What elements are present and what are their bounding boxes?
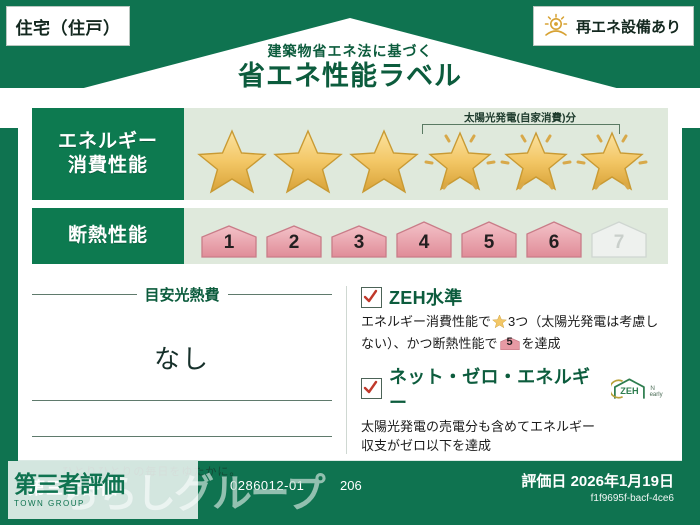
insulation-performance-label: 断熱性能 [32, 208, 184, 264]
star-filled [272, 120, 344, 196]
insulation-label-text: 断熱性能 [68, 224, 148, 248]
zeh-logo: ZEH Ｎearly [611, 377, 668, 401]
inline-grade-number: 5 [500, 335, 520, 351]
zeh-desc-part2: 3つ（太陽光発電 [508, 314, 606, 329]
grade-badge-7: 7 [588, 219, 650, 259]
energy-performance-body: 太陽光発電(自家消費)分 [184, 108, 668, 200]
star-solar [424, 120, 496, 196]
rating-rows: エネルギー 消費性能 太陽光発電(自家消費)分 [32, 108, 668, 272]
net-zero-title: ネット・ゼロ・エネルギー [389, 363, 602, 415]
grade-badge-2: 2 [263, 223, 325, 259]
star-rating [184, 120, 668, 200]
grade-number: 4 [393, 232, 455, 254]
footer-divider [18, 460, 682, 461]
utility-cost-label: 目安光熱費 [145, 284, 220, 305]
svg-text:ZEH: ZEH [620, 386, 639, 396]
utility-cost-value: なし [32, 339, 332, 376]
inline-grade-badge-icon: 5 [500, 335, 520, 352]
energy-performance-label: エネルギー 消費性能 [32, 108, 184, 200]
grade-scale: 1 2 3 [184, 219, 650, 264]
evaluation-date-label: 評価日 [521, 473, 566, 490]
zeh-standard-header: ZEH水準 [361, 284, 668, 310]
grade-badge-3: 3 [328, 223, 390, 259]
net-zero-description: 太陽光発電の売電分も含めてエネルギー 収支がゼロ以下を達成 [361, 418, 668, 456]
inline-star-icon [492, 314, 507, 335]
heading-rule-right [228, 294, 333, 295]
grade-badge-4: 4 [393, 219, 455, 259]
net-zero-energy-item: ネット・ゼロ・エネルギー ZEH Ｎearly 太陽光発電の売電分も含めてエネル… [361, 363, 668, 456]
net-zero-desc-line2: 収支がゼロ以下を達成 [361, 438, 491, 453]
grade-number: 3 [328, 232, 390, 254]
evaluation-date-block: 評価日 2026年1月19日 f1f9695f-bacf-4ce6 [521, 470, 674, 504]
energy-label-card: 住宅（住戸） 再エネ設備あり 建築物省エネ法に基づく 省エネ性能ラベル [0, 0, 700, 525]
grade-number: 5 [458, 232, 520, 254]
grade-badge-1: 1 [198, 223, 260, 259]
net-zero-desc-line1: 太陽光発電の売電分も含めてエネルギー [361, 419, 595, 434]
zeh-standard-description: エネルギー消費性能で3つ（太陽光発電は考慮しない）、かつ断熱性能で5を達成 [361, 313, 668, 354]
star-filled [348, 120, 420, 196]
footer: 第三者評価 0286012-01 206 評価日 2026年1月19日 f1f9… [0, 460, 700, 525]
grade-number: 7 [588, 232, 650, 254]
checkbox-checked-icon[interactable] [361, 287, 382, 308]
record-id: f1f9695f-bacf-4ce6 [521, 493, 674, 504]
energy-label-line1: エネルギー [58, 130, 158, 154]
cost-divider-bottom [32, 436, 332, 437]
registration-number: 0286012-01 [230, 478, 304, 493]
label-title: 建築物省エネ法に基づく 省エネ性能ラベル [0, 44, 700, 94]
grade-number: 6 [523, 232, 585, 254]
heading-rule-left [32, 294, 137, 295]
energy-label-line2: 消費性能 [68, 154, 148, 178]
energy-performance-row: エネルギー 消費性能 太陽光発電(自家消費)分 [32, 108, 668, 200]
column-divider [346, 286, 347, 454]
cost-divider-top [32, 400, 332, 401]
renewable-energy-badge: 再エネ設備あり [533, 6, 694, 46]
zeh-desc-part1: エネルギー消費性能で [361, 314, 491, 329]
grade-badge-5: 5 [458, 219, 520, 259]
grade-number: 2 [263, 232, 325, 254]
title-main: 省エネ性能ラベル [0, 60, 700, 94]
star-filled [196, 120, 268, 196]
house-type-badge: 住宅（住戸） [6, 6, 130, 46]
third-party-eval-label: 第三者評価 [28, 474, 118, 499]
title-subtitle: 建築物省エネ法に基づく [0, 44, 700, 59]
star-solar [500, 120, 572, 196]
insulation-performance-row: 断熱性能 1 [32, 208, 668, 264]
insulation-performance-body: 1 2 3 [184, 208, 668, 264]
net-zero-header: ネット・ゼロ・エネルギー ZEH Ｎearly [361, 363, 668, 415]
sun-icon [542, 12, 570, 40]
checkbox-checked-icon[interactable] [361, 378, 382, 399]
star-solar [576, 120, 648, 196]
utility-cost-heading: 目安光熱費 [32, 284, 332, 305]
evaluation-date-value: 2026年1月19日 [571, 473, 674, 490]
zeh-standard-title: ZEH水準 [389, 284, 463, 310]
zeh-logo-subtext: Ｎearly [650, 383, 668, 398]
zeh-desc-part4: を達成 [522, 336, 561, 351]
bottom-section: 目安光熱費 なし ZEH水準 [32, 284, 668, 456]
zeh-standard-item: ZEH水準 エネルギー消費性能で3つ（太陽光発電は考慮しない）、かつ断熱性能で5… [361, 284, 668, 354]
grade-badge-6: 6 [523, 219, 585, 259]
evaluation-date: 評価日 2026年1月19日 [521, 470, 674, 491]
registration-number-suffix: 206 [340, 478, 362, 493]
house-type-label: 住宅（住戸） [16, 14, 121, 39]
grade-number: 1 [198, 232, 260, 254]
utility-cost-column: 目安光熱費 なし [32, 284, 332, 456]
renewable-label: 再エネ設備あり [576, 16, 681, 37]
zeh-column: ZEH水準 エネルギー消費性能で3つ（太陽光発電は考慮しない）、かつ断熱性能で5… [361, 284, 668, 456]
